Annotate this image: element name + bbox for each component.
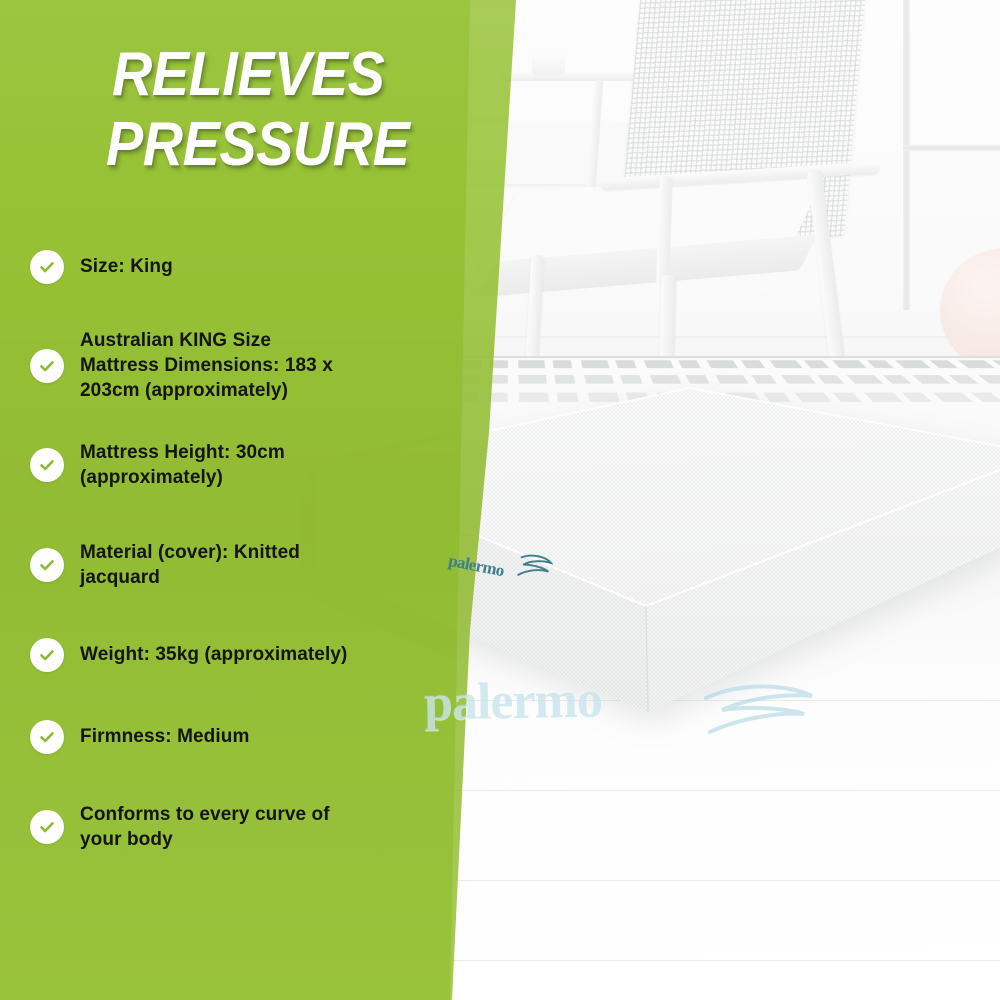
feature-item-label: Mattress Height: 30cm (approximately) bbox=[80, 436, 330, 490]
headline: RELIEVES PRESSURE bbox=[112, 40, 512, 180]
product-logo-swoosh-icon bbox=[515, 549, 554, 585]
palermo-watermark-swoosh-icon bbox=[700, 680, 820, 740]
headline-line-2: PRESSURE bbox=[106, 110, 471, 180]
armchair bbox=[560, 0, 980, 350]
check-circle-icon bbox=[30, 548, 64, 582]
headline-line-1: RELIEVES bbox=[112, 40, 472, 110]
check-circle-icon bbox=[30, 720, 64, 754]
feature-item-firmness: Firmness: Medium bbox=[30, 720, 249, 754]
check-circle-icon bbox=[30, 638, 64, 672]
feature-item-dimensions: Australian KING Size Mattress Dimensions… bbox=[30, 324, 350, 403]
feature-item-label: Australian KING Size Mattress Dimensions… bbox=[80, 324, 350, 403]
check-circle-icon bbox=[30, 250, 64, 284]
feature-item-conforms: Conforms to every curve of your body bbox=[30, 798, 370, 852]
feature-item-size: Size: King bbox=[30, 250, 173, 284]
feature-item-label: Conforms to every curve of your body bbox=[80, 798, 370, 852]
product-feature-image: palermo palermo RELIEVES PRESSURE Size: … bbox=[0, 0, 1000, 1000]
feature-item-material: Material (cover): Knitted jacquard bbox=[30, 536, 340, 590]
feature-item-height: Mattress Height: 30cm (approximately) bbox=[30, 436, 330, 490]
feature-item-label: Material (cover): Knitted jacquard bbox=[80, 536, 340, 590]
check-circle-icon bbox=[30, 448, 64, 482]
feature-item-label: Size: King bbox=[80, 250, 173, 279]
check-circle-icon bbox=[30, 810, 64, 844]
feature-item-label: Firmness: Medium bbox=[80, 720, 249, 749]
palermo-watermark: palermo bbox=[423, 670, 602, 732]
check-circle-icon bbox=[30, 349, 64, 383]
feature-item-weight: Weight: 35kg (approximately) bbox=[30, 638, 347, 672]
feature-item-label: Weight: 35kg (approximately) bbox=[80, 638, 347, 667]
